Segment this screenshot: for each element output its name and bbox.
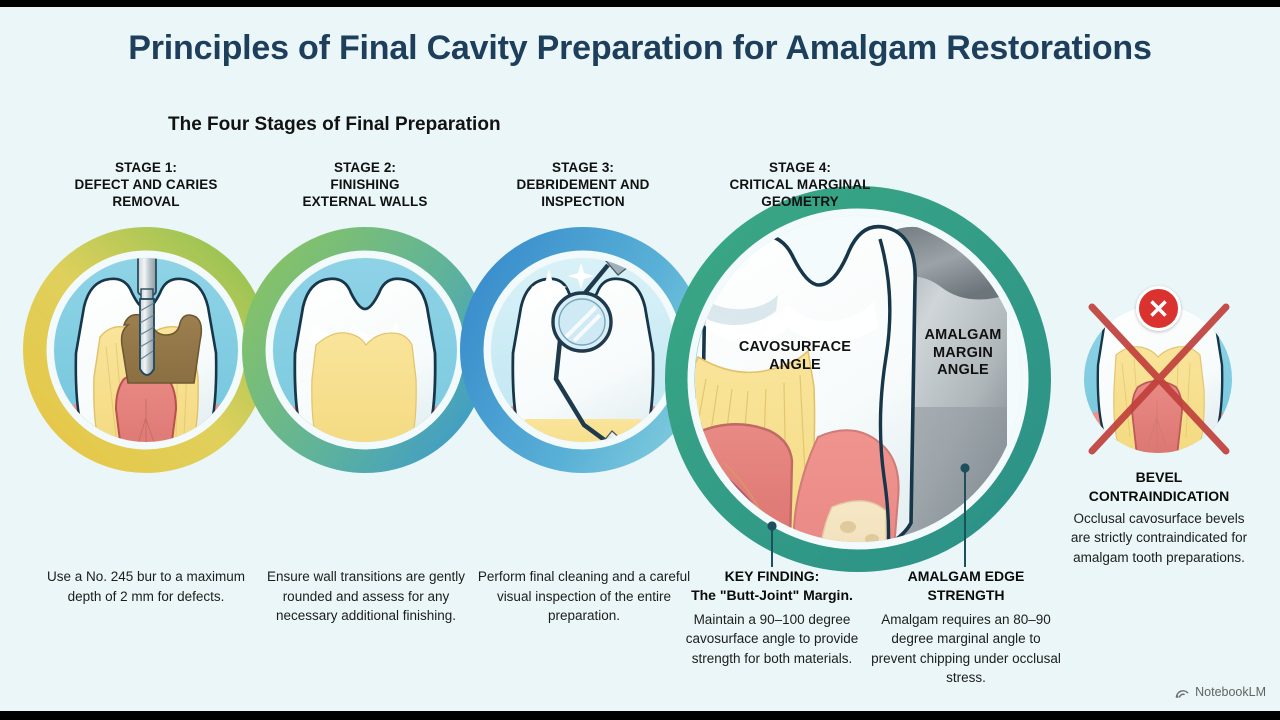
amalgam-margin-angle-label: AMALGAM MARGIN ANGLE xyxy=(903,327,1023,380)
error-badge-icon: ✕ xyxy=(1136,286,1181,331)
stage-3-label: STAGE 3: DEBRIDEMENT AND INSPECTION xyxy=(483,159,683,210)
cavosurface-angle-label: CAVOSURFACE ANGLE xyxy=(710,339,880,374)
stage-2-caption: Ensure wall transitions are gently round… xyxy=(258,567,474,626)
stage-2-label: STAGE 2: FINISHING EXTERNAL WALLS xyxy=(265,159,465,210)
stage-4-illustration xyxy=(666,199,1038,591)
notebooklm-icon xyxy=(1175,686,1190,699)
close-icon: ✕ xyxy=(1148,296,1170,322)
stage-2-illustration xyxy=(255,240,475,491)
key-finding-callout: KEY FINDING: The "Butt-Joint" Margin. Ma… xyxy=(676,567,868,668)
letterbox-top xyxy=(0,0,1280,7)
watermark-label: NotebookLM xyxy=(1195,685,1266,699)
key-finding-body: Maintain a 90–100 degree cavosurface ang… xyxy=(676,610,868,669)
contraindication-title: BEVEL CONTRAINDICATION xyxy=(1068,468,1250,506)
amalgam-edge-strength-title: AMALGAM EDGE STRENGTH xyxy=(868,567,1064,605)
stage-1-label: STAGE 1: DEFECT AND CARIES REMOVAL xyxy=(46,159,246,210)
contraindication-body: Occlusal cavosurface bevels are strictly… xyxy=(1068,509,1250,568)
stage-3-caption: Perform final cleaning and a careful vis… xyxy=(476,567,692,626)
contraindication-panel: BEVEL CONTRAINDICATION Occlusal cavosurf… xyxy=(1068,468,1250,567)
stage-1-caption: Use a No. 245 bur to a maximum depth of … xyxy=(38,567,254,606)
amalgam-edge-strength-body: Amalgam requires an 80–90 degree margina… xyxy=(868,610,1064,688)
amalgam-edge-strength-callout: AMALGAM EDGE STRENGTH Amalgam requires a… xyxy=(868,567,1064,688)
stage-1-illustration xyxy=(36,225,256,489)
key-finding-title: KEY FINDING: The "Butt-Joint" Margin. xyxy=(676,567,868,605)
letterbox-bottom xyxy=(0,711,1280,720)
screenshot-root: Principles of Final Cavity Preparation f… xyxy=(0,0,1280,720)
stage-4-label: STAGE 4: CRITICAL MARGINAL GEOMETRY xyxy=(700,159,900,210)
watermark: NotebookLM xyxy=(1175,685,1266,699)
stage-3-illustration xyxy=(473,231,693,495)
infographic-canvas: Principles of Final Cavity Preparation f… xyxy=(0,7,1280,711)
